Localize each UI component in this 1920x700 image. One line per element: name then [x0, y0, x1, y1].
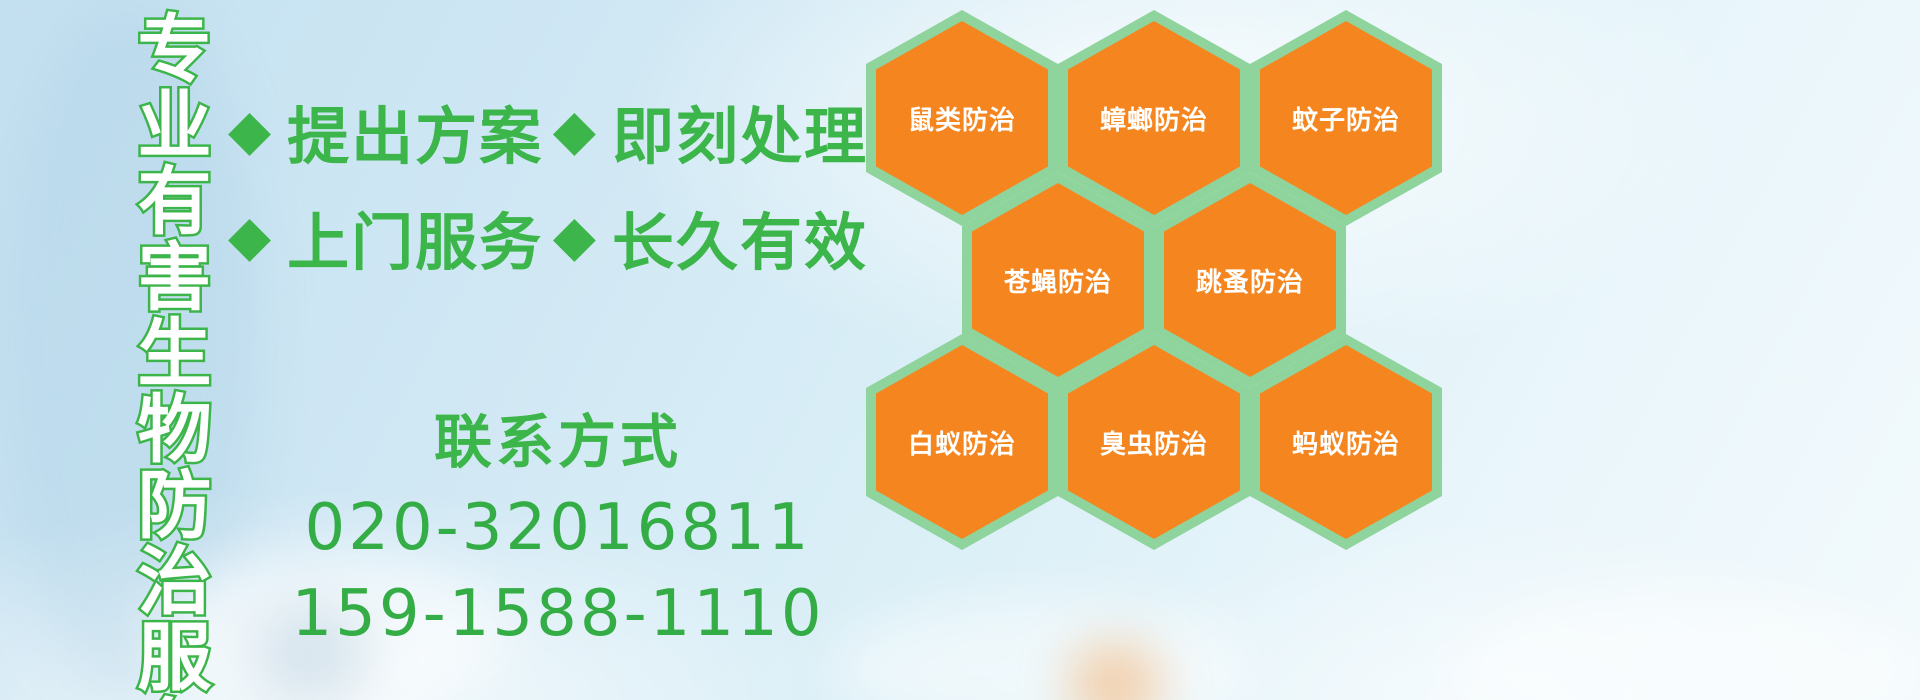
background-haze-bottom-center	[830, 600, 1250, 700]
service-label: 白蚁防治	[908, 424, 1016, 461]
selling-point-label: 长久有效	[612, 192, 868, 282]
service-label: 臭虫防治	[1100, 424, 1208, 461]
background-orange-glow	[1070, 645, 1160, 700]
diamond-bullet-icon: ◆	[228, 209, 271, 265]
service-label: 蚂蚁防治	[1292, 424, 1400, 461]
service-label: 跳蚤防治	[1196, 262, 1304, 299]
hex-face: 臭虫防治	[1068, 345, 1240, 539]
selling-point-label: 即刻处理	[612, 86, 868, 176]
hex-face: 蚂蚁防治	[1260, 345, 1432, 539]
hex-face: 鼠类防治	[876, 21, 1048, 215]
service-label: 蟑螂防治	[1100, 100, 1208, 137]
hex-face: 跳蚤防治	[1164, 183, 1336, 377]
service-label: 蚊子防治	[1292, 100, 1400, 137]
service-label: 苍蝇防治	[1004, 262, 1112, 299]
diamond-bullet-icon: ◆	[228, 103, 271, 159]
selling-point-row: ◆ 上门服务 ◆ 长久有效	[228, 184, 868, 290]
hex-face: 蚊子防治	[1260, 21, 1432, 215]
selling-points-list: ◆ 提出方案 ◆ 即刻处理 ◆ 上门服务 ◆ 长久有效	[228, 78, 868, 290]
hex-face: 白蚁防治	[876, 345, 1048, 539]
hex-face: 苍蝇防治	[972, 183, 1144, 377]
selling-point-label: 上门服务	[287, 192, 543, 282]
selling-point-label: 提出方案	[287, 86, 543, 176]
pest-control-banner: 专业有害生物防治服务 ◆ 提出方案 ◆ 即刻处理 ◆ 上门服务 ◆ 长久有效 联…	[0, 0, 1920, 700]
contact-heading: 联系方式	[228, 395, 888, 479]
selling-point-row: ◆ 提出方案 ◆ 即刻处理	[228, 78, 868, 184]
diamond-bullet-icon: ◆	[553, 103, 596, 159]
service-hexagon-grid: 鼠类防治 蟑螂防治 蚊子防治 苍蝇防治 跳蚤防治 白蚁防	[860, 0, 1460, 570]
contact-block: 联系方式 020-32016811 159-1588-1110	[228, 395, 888, 658]
phone-number-landline[interactable]: 020-32016811	[228, 485, 888, 571]
background-haze-bottom-right	[1450, 590, 1920, 700]
diamond-bullet-icon: ◆	[553, 209, 596, 265]
phone-number-mobile[interactable]: 159-1588-1110	[228, 571, 888, 657]
service-label: 鼠类防治	[908, 100, 1016, 137]
hex-face: 蟑螂防治	[1068, 21, 1240, 215]
vertical-headline: 专业有害生物防治服务	[104, 10, 204, 680]
